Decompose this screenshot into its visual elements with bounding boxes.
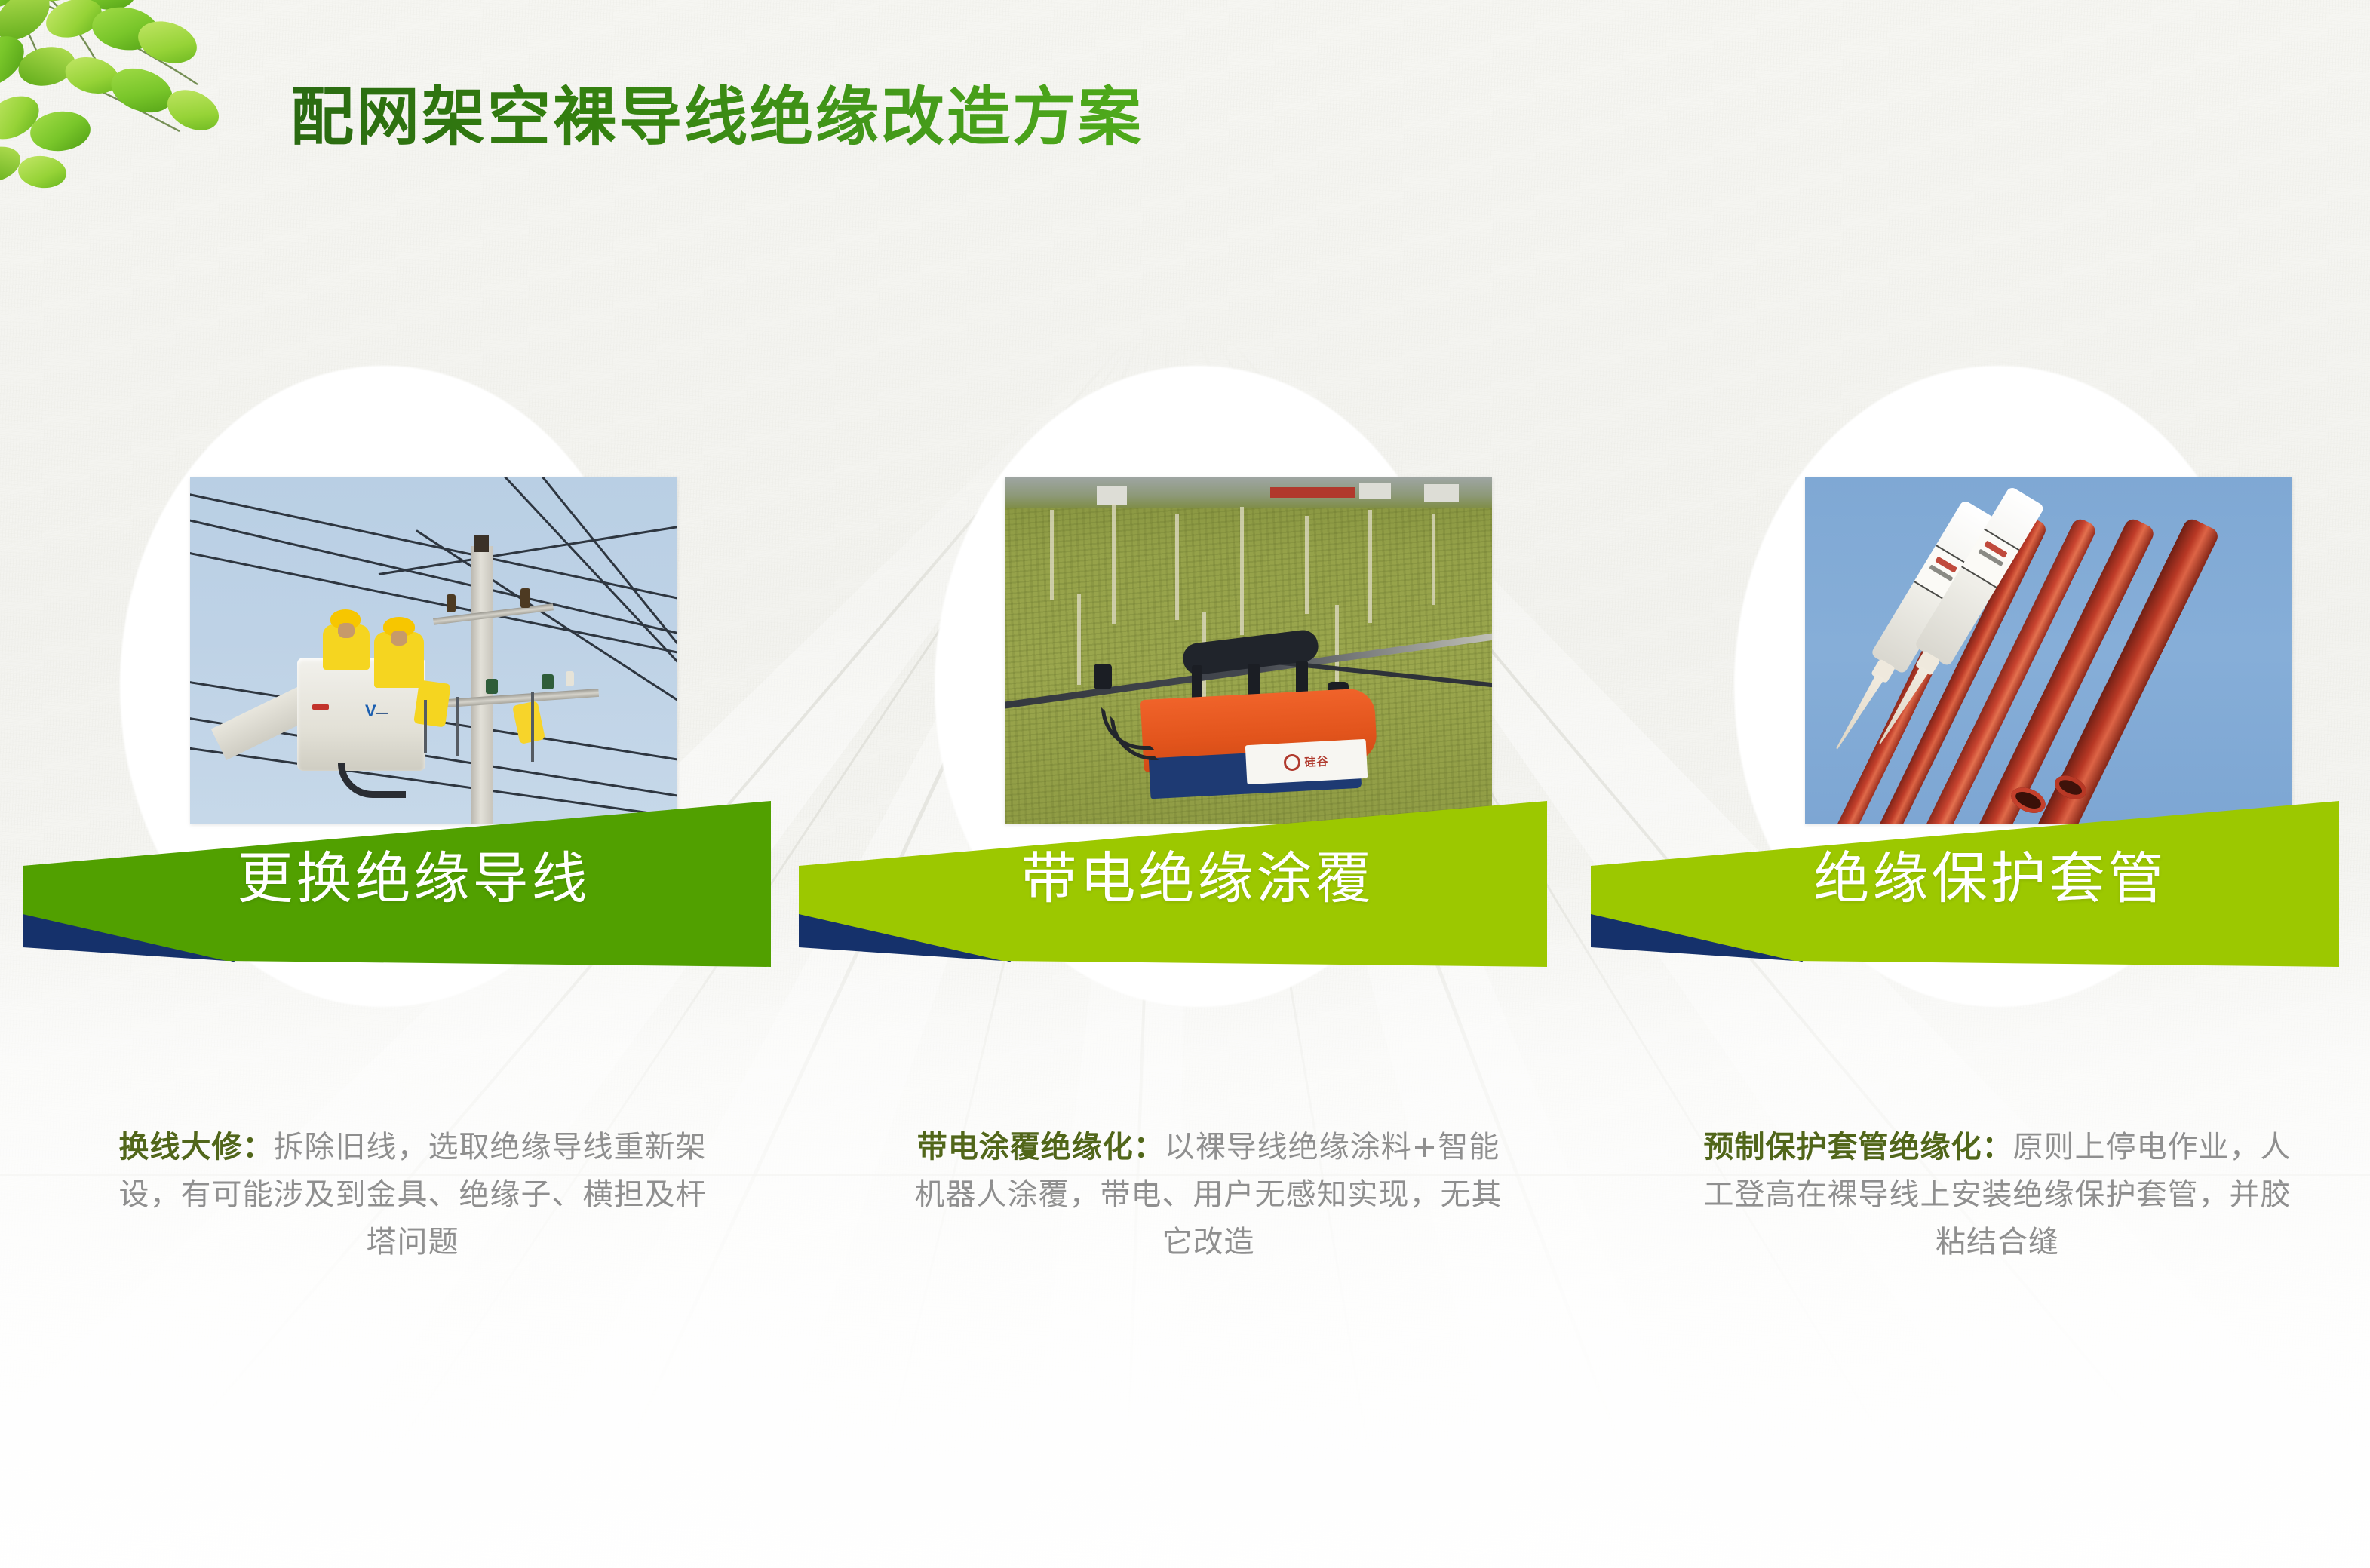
description-lead: 预制保护套管绝缘化： [1704,1130,2013,1164]
solution-card-insulation-protective-sleeve: 绝缘保护套管 预制保护套管绝缘化：原则上停电作业，人工登高在裸导线上安装绝缘保护… [1580,0,2370,1568]
solution-description: 预制保护套管绝缘化：原则上停电作业，人工登高在裸导线上安装绝缘保护套管，并胶粘结… [1699,1124,2295,1267]
solution-description: 带电涂覆绝缘化：以裸导线绝缘涂料+智能机器人涂覆，带电、用户无感知实现，无其它改… [910,1124,1506,1267]
photo-coating-robot: 硅谷 [1005,477,1492,824]
banner-ribbon[interactable] [0,799,790,996]
solution-card-live-line-insulation-coating: 硅谷 带电绝缘涂覆 带电涂覆绝缘化：以裸导线绝缘涂料+智能机器人涂覆，带电、用户… [790,0,1579,1568]
solution-description: 换线大修：拆除旧线，选取绝缘导线重新架设，有可能涉及到金具、绝缘子、横担及杆塔问… [115,1124,711,1267]
banner-ribbon[interactable] [1580,799,2370,996]
description-lead: 带电涂覆绝缘化： [917,1130,1165,1164]
banner-ribbon[interactable] [790,799,1579,996]
photo-power-line-workers: V━━ [190,477,677,824]
solution-card-replace-insulated-conductor: V━━ 更换绝缘导线 换线大修：拆除旧线，选取绝缘导线重新架设，有可能涉及到金具… [0,0,790,1568]
description-lead: 换线大修： [119,1130,274,1164]
photo-insulation-tubes [1805,477,2292,824]
robot-brand-text: 硅谷 [1304,753,1329,770]
